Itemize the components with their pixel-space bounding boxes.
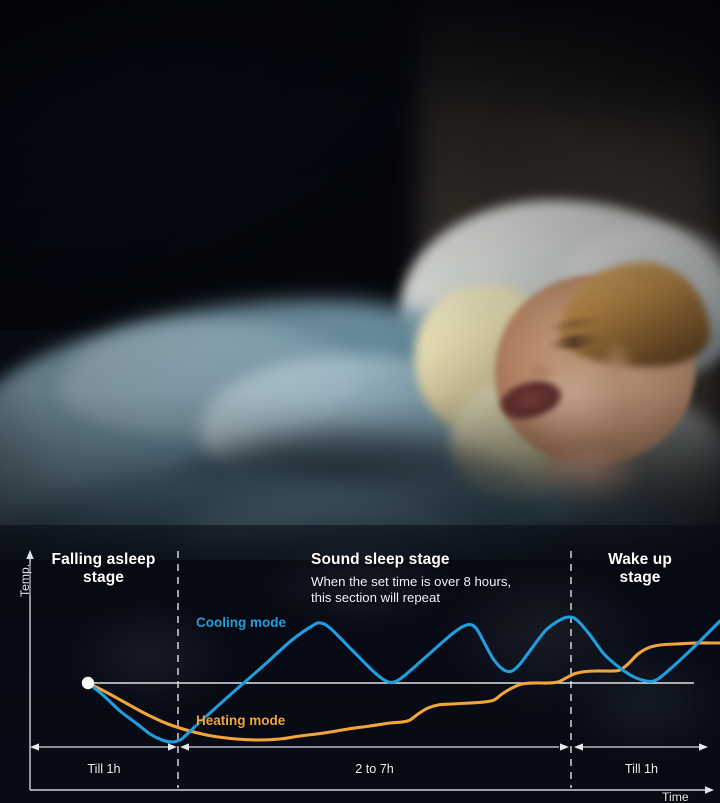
duration-span-rail xyxy=(30,743,708,750)
photo-clip xyxy=(0,0,720,560)
legend-heating-mode: Heating mode xyxy=(196,713,285,729)
duration-label-sound-sleep: 2 to 7h xyxy=(178,762,571,777)
photo-vignette xyxy=(0,0,720,560)
x-axis-label: Time xyxy=(662,790,689,803)
stage-title-sound-sleep: Sound sleep stage xyxy=(311,551,450,569)
duration-label-wake-up: Till 1h xyxy=(571,762,712,777)
infographic-root: Temp. Time Falling asleep stage Sound sl… xyxy=(0,0,720,803)
stage-title-falling-asleep: Falling asleep stage xyxy=(26,551,181,588)
legend-cooling-mode: Cooling mode xyxy=(196,615,286,631)
heating-mode-curve xyxy=(88,643,720,740)
x-axis xyxy=(30,786,714,793)
start-point-marker xyxy=(82,677,94,689)
stage-title-wake-up: Wake up stage xyxy=(590,551,690,588)
sleep-temperature-chart: Temp. Time Falling asleep stage Sound sl… xyxy=(0,525,720,803)
stage-subtitle-sound-sleep: When the set time is over 8 hours, this … xyxy=(311,574,511,605)
duration-label-falling-asleep: Till 1h xyxy=(30,762,178,777)
